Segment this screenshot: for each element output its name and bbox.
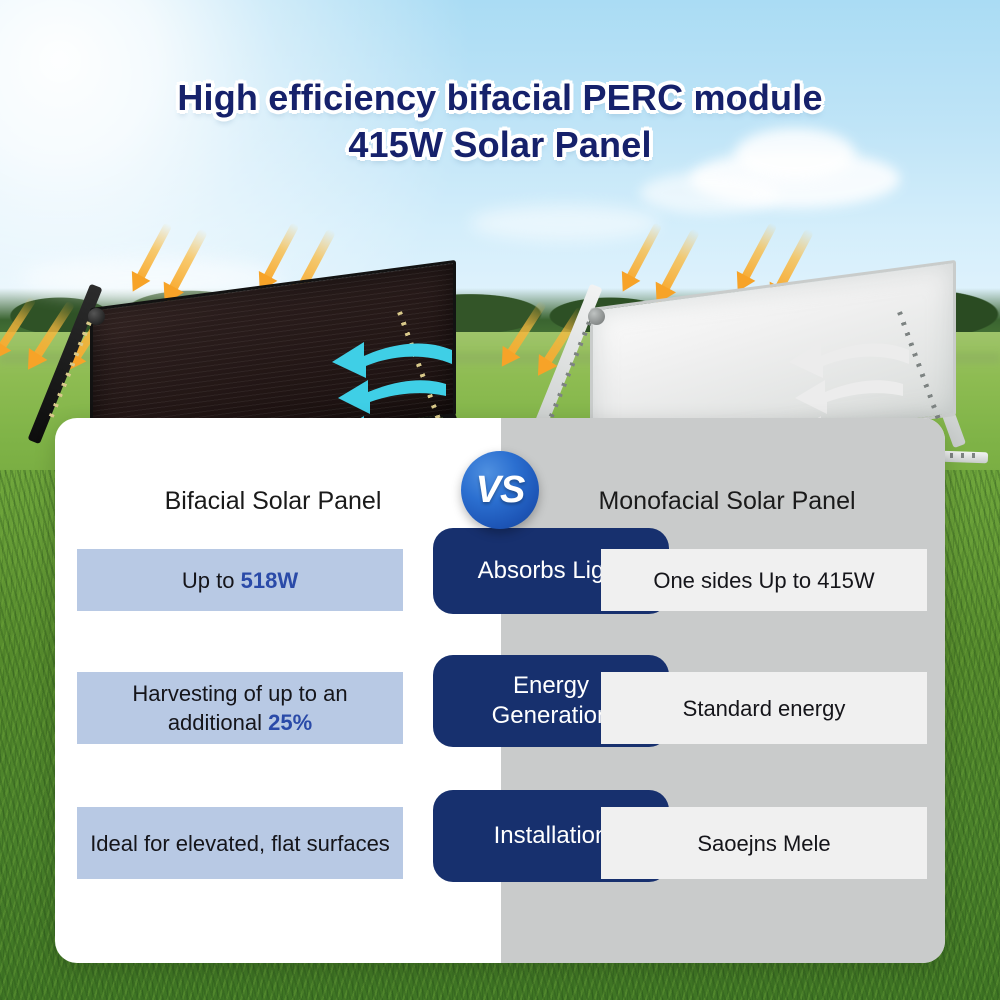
cell-right-value: One sides Up to 415W	[601, 549, 927, 611]
left-prefix: Up to	[182, 568, 241, 593]
cell-left-value: Up to 518W	[77, 549, 403, 611]
title-line-2: 415W Solar Panel	[0, 121, 1000, 168]
poster-stage: High efficiency bifacial PERC module 415…	[0, 0, 1000, 1000]
column-header-left: Bifacial Solar Panel	[63, 480, 483, 522]
cloud	[640, 172, 780, 214]
feature-badge-label-line1: Energy	[513, 672, 589, 699]
cell-right-value: Saoejns Mele	[601, 807, 927, 879]
left-highlight: 25%	[268, 710, 312, 735]
feature-badge-label-line2: Generation	[492, 702, 611, 729]
feature-badge-label: Installation	[494, 821, 609, 851]
left-highlight: 518W	[241, 568, 298, 593]
cloud	[470, 205, 660, 241]
left-prefix: Harvesting of up to an additional	[132, 681, 347, 735]
title-line-1: High efficiency bifacial PERC module	[177, 77, 822, 118]
cell-left-value: Harvesting of up to an additional 25%	[77, 672, 403, 744]
left-prefix: Ideal for elevated, flat surfaces	[90, 829, 390, 858]
table-row: Harvesting of up to an additional 25% En…	[55, 672, 945, 744]
page-title: High efficiency bifacial PERC module 415…	[0, 74, 1000, 168]
table-row: Up to 518W Absorbs Light One sides Up to…	[55, 549, 945, 611]
column-header-right: Monofacial Solar Panel	[517, 480, 937, 522]
cell-right-value: Standard energy	[601, 672, 927, 744]
vs-badge: VS	[461, 451, 539, 529]
table-row: Ideal for elevated, flat surfaces Instal…	[55, 807, 945, 879]
cell-left-value: Ideal for elevated, flat surfaces	[77, 807, 403, 879]
vs-badge-label: VS	[476, 469, 525, 512]
